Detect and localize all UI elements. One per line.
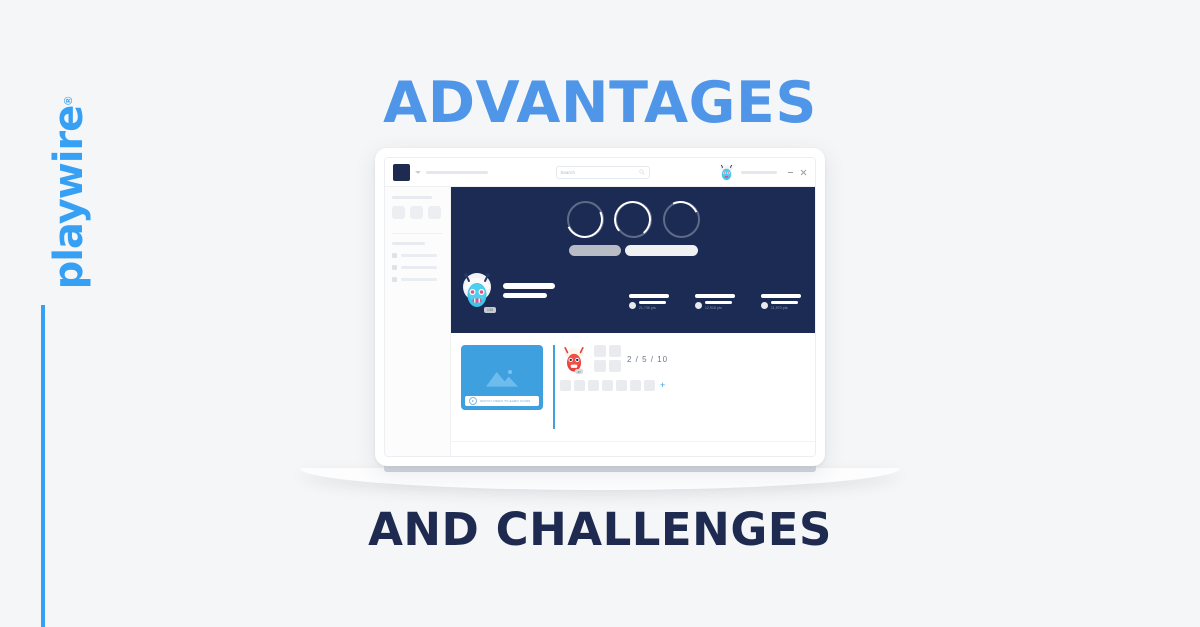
reward-slot[interactable] xyxy=(594,360,606,372)
hero-stat-title-placeholder xyxy=(761,294,801,298)
hero-stat-3: 11,970 pts xyxy=(761,294,801,310)
reward-slot[interactable] xyxy=(574,380,585,391)
progress-ring-3 xyxy=(663,201,700,238)
hero-user-subtitle-placeholder xyxy=(503,293,547,298)
hero-stat-title-placeholder xyxy=(695,294,735,298)
laptop-mockup: Search xyxy=(300,148,900,488)
sidebar-item-2[interactable] xyxy=(392,265,443,270)
reward-slot[interactable] xyxy=(594,345,606,357)
laptop-lid: Search xyxy=(375,148,825,466)
reward-slot[interactable] xyxy=(602,380,613,391)
sidebar-item-1[interactable] xyxy=(392,253,443,258)
window-controls xyxy=(788,169,807,176)
sidebar-item-label xyxy=(401,278,437,281)
watch-video-button-label: WATCH VIDEO TO EARN COINS xyxy=(480,399,530,403)
hero-avatar[interactable]: 130 xyxy=(457,270,497,310)
sidebar-section-one-title xyxy=(392,196,432,199)
sidebar-tile-2[interactable] xyxy=(410,206,423,219)
sidebar-divider xyxy=(392,233,443,234)
media-card[interactable]: WATCH VIDEO TO EARN COINS xyxy=(461,345,543,410)
rewards-panel: 47 2 / 5 / 10 xyxy=(553,345,805,429)
hero-stat-2: 12,918 pts xyxy=(695,294,735,310)
hero-stat-1: 21,736 pts xyxy=(629,294,669,310)
play-icon xyxy=(469,397,477,405)
sidebar-item-icon xyxy=(392,277,397,282)
laptop-screen: Search xyxy=(384,157,816,457)
app-topbar: Search xyxy=(385,158,815,187)
content-section: WATCH VIDEO TO EARN COINS xyxy=(451,333,815,441)
reward-slot[interactable] xyxy=(630,380,641,391)
hero-user-badge: 130 xyxy=(484,307,496,313)
sidebar-tile-3[interactable] xyxy=(428,206,441,219)
hero-stat-value-placeholder xyxy=(705,301,732,304)
reward-slots-top xyxy=(594,345,621,372)
app-title-placeholder xyxy=(426,171,488,174)
search-input[interactable]: Search xyxy=(556,166,650,179)
user-avatar[interactable] xyxy=(717,163,736,182)
reward-slot[interactable] xyxy=(609,360,621,372)
hero-user-text xyxy=(503,283,555,298)
sidebar-section-two-title xyxy=(392,242,425,245)
app-main: 130 xyxy=(451,187,815,456)
hero-stat-caption: 11,970 pts xyxy=(771,306,798,310)
reward-slot[interactable] xyxy=(588,380,599,391)
hero-user-name-placeholder xyxy=(503,283,555,289)
red-monster-avatar[interactable]: 47 xyxy=(560,345,588,373)
reward-slot[interactable] xyxy=(644,380,655,391)
hero-stat-icon xyxy=(629,302,636,309)
close-icon[interactable] xyxy=(800,169,807,176)
brand-accent-line xyxy=(41,305,45,627)
minimize-icon[interactable] xyxy=(788,172,793,173)
reward-slot[interactable] xyxy=(616,380,627,391)
app-sidebar xyxy=(385,187,451,456)
progress-rings xyxy=(451,201,815,238)
user-name-placeholder xyxy=(741,171,777,174)
hero-section: 130 xyxy=(451,187,815,333)
app-body: 130 xyxy=(385,187,815,456)
reward-slot[interactable] xyxy=(560,380,571,391)
topbar-user-area xyxy=(717,163,807,182)
sidebar-tile-1[interactable] xyxy=(392,206,405,219)
rewards-avatar-badge: 47 xyxy=(575,369,583,374)
hero-stat-caption: 21,736 pts xyxy=(639,306,666,310)
score-display: 2 / 5 / 10 xyxy=(627,355,668,364)
watch-video-button[interactable]: WATCH VIDEO TO EARN COINS xyxy=(465,396,539,406)
reward-slot[interactable] xyxy=(609,345,621,357)
search-placeholder: Search xyxy=(561,170,575,175)
hero-stat-value-placeholder xyxy=(639,301,666,304)
hero-stats: 21,736 pts xyxy=(629,294,801,310)
sidebar-item-icon xyxy=(392,265,397,270)
sidebar-tiles xyxy=(392,206,443,219)
content-footer xyxy=(451,441,815,456)
add-reward-button[interactable]: + xyxy=(660,381,665,390)
sidebar-item-3[interactable] xyxy=(392,277,443,282)
rewards-panel-top: 47 2 / 5 / 10 xyxy=(560,345,805,373)
headline-and-challenges: AND CHALLENGES xyxy=(0,503,1200,556)
headline-advantages: ADVANTAGES xyxy=(0,70,1200,136)
hero-stat-icon xyxy=(761,302,768,309)
hero-button-secondary[interactable] xyxy=(625,245,698,256)
progress-ring-1 xyxy=(567,201,604,238)
hero-stat-caption: 12,918 pts xyxy=(705,306,732,310)
sidebar-item-label xyxy=(401,254,437,257)
reward-slots-bottom: + xyxy=(560,380,805,391)
progress-ring-2 xyxy=(615,201,652,238)
hero-buttons xyxy=(451,245,815,256)
sidebar-item-icon xyxy=(392,253,397,258)
search-icon[interactable] xyxy=(639,169,645,175)
sidebar-item-label xyxy=(401,266,437,269)
chevron-down-icon[interactable] xyxy=(415,171,421,174)
hero-stat-value-placeholder xyxy=(771,301,798,304)
hero-bottom-row: 130 xyxy=(451,270,815,318)
mountain-image-icon xyxy=(482,366,522,390)
app-logo-icon[interactable] xyxy=(393,164,410,181)
hero-button-primary[interactable] xyxy=(569,245,621,256)
hero-user: 130 xyxy=(457,270,555,310)
hero-stat-title-placeholder xyxy=(629,294,669,298)
hero-stat-icon xyxy=(695,302,702,309)
